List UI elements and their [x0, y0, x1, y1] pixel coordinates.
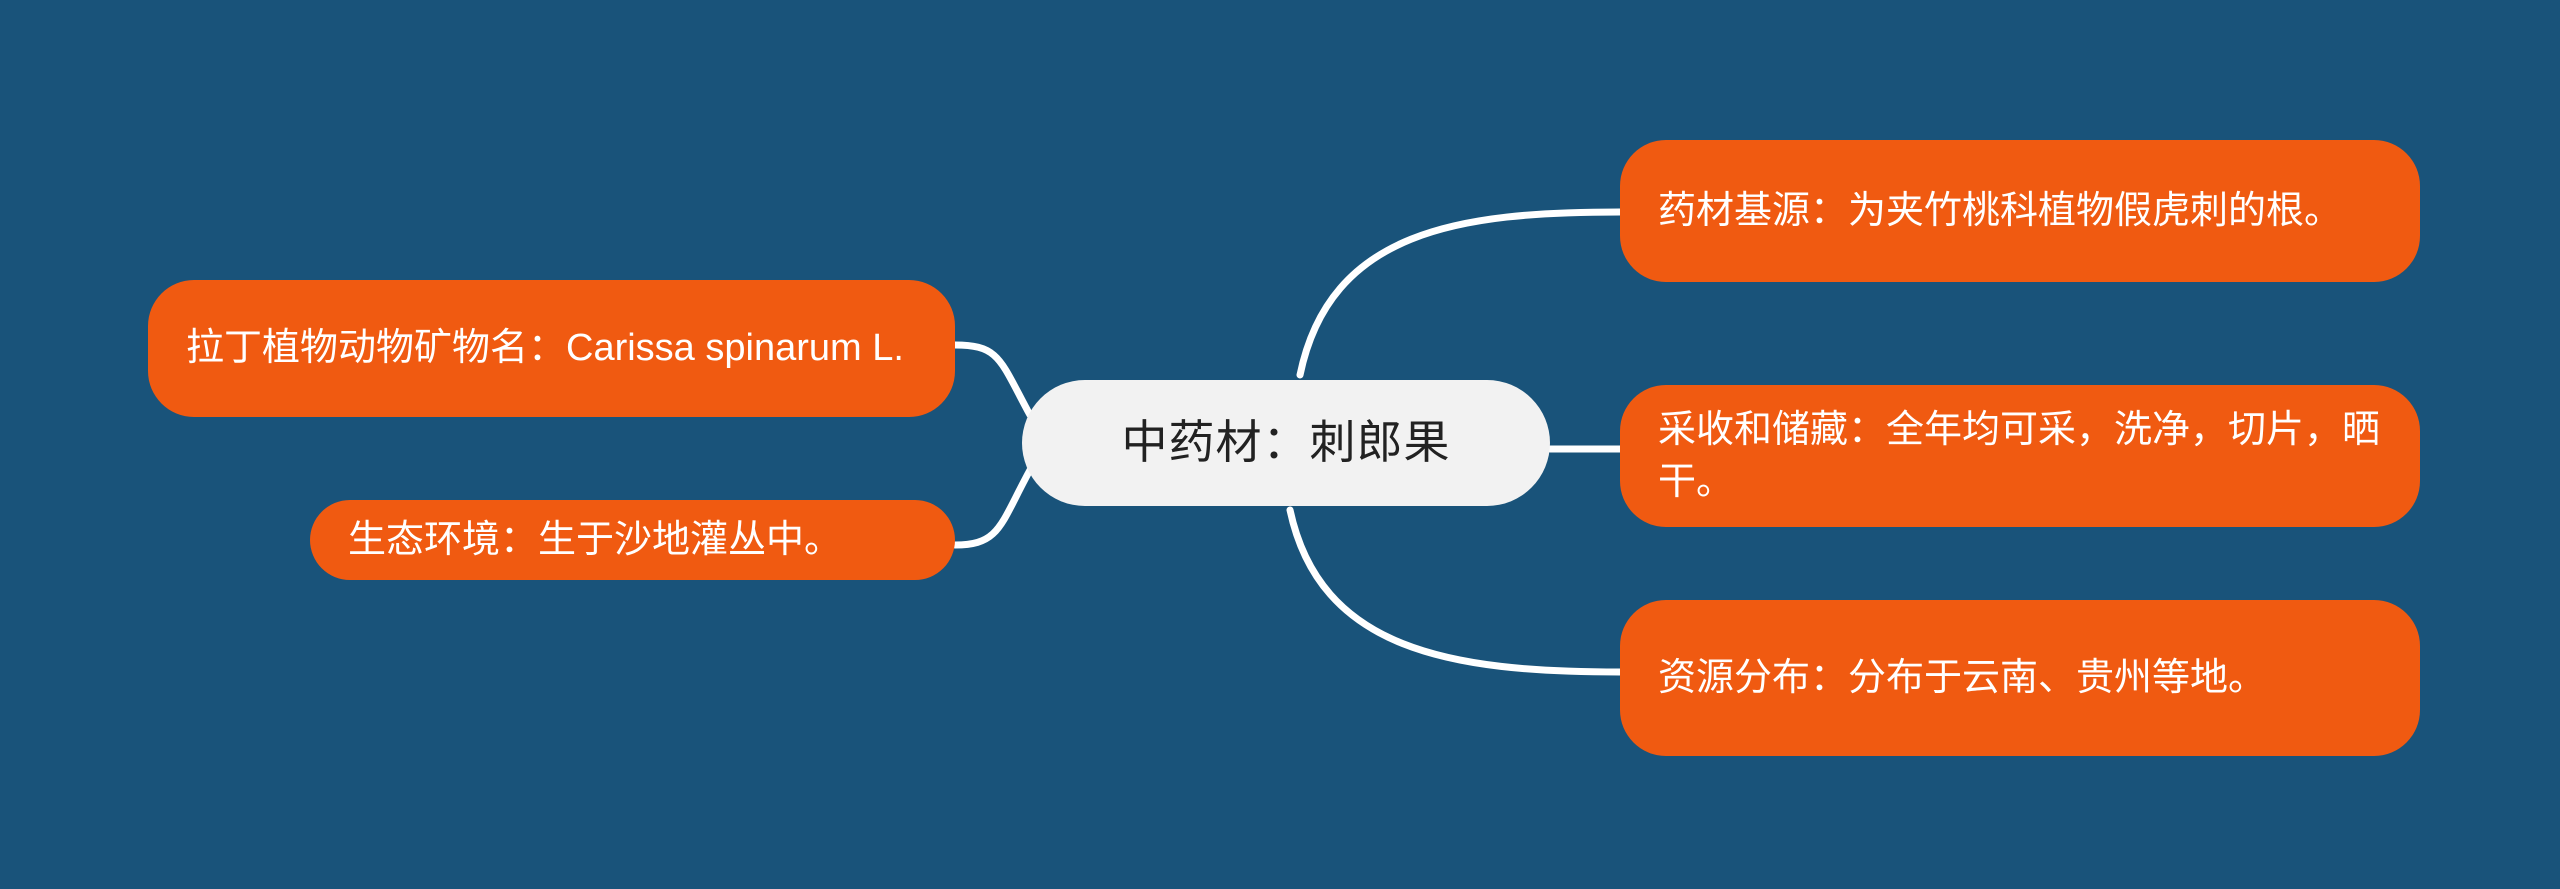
mindmap-canvas: 中药材：刺郎果 拉丁植物动物矿物名：Carissa spinarum L. 生态…	[0, 0, 2560, 889]
connector-root-to-resource-distribution	[1290, 510, 1620, 672]
connector-root-to-ecological-environment	[955, 470, 1030, 545]
mindmap-node-resource-distribution[interactable]: 资源分布：分布于云南、贵州等地。	[1620, 600, 2420, 756]
mindmap-root-label: 中药材：刺郎果	[1022, 411, 1550, 474]
connector-root-to-latin-name	[955, 345, 1030, 415]
mindmap-node-ecological-environment-label: 生态环境：生于沙地灌丛中。	[348, 514, 917, 566]
mindmap-node-latin-name-label: 拉丁植物动物矿物名：Carissa spinarum L.	[186, 322, 917, 374]
mindmap-node-resource-distribution-label: 资源分布：分布于云南、贵州等地。	[1658, 652, 2382, 704]
connector-root-to-medicinal-source	[1300, 212, 1620, 375]
mindmap-node-harvest-and-storage-label: 采收和储藏：全年均可采，洗净，切片，晒干。	[1658, 404, 2382, 509]
mindmap-node-ecological-environment[interactable]: 生态环境：生于沙地灌丛中。	[310, 500, 955, 580]
mindmap-node-latin-name[interactable]: 拉丁植物动物矿物名：Carissa spinarum L.	[148, 280, 955, 417]
mindmap-node-harvest-and-storage[interactable]: 采收和储藏：全年均可采，洗净，切片，晒干。	[1620, 385, 2420, 527]
mindmap-node-medicinal-source-label: 药材基源：为夹竹桃科植物假虎刺的根。	[1658, 185, 2382, 237]
mindmap-node-medicinal-source[interactable]: 药材基源：为夹竹桃科植物假虎刺的根。	[1620, 140, 2420, 282]
mindmap-root-node[interactable]: 中药材：刺郎果	[1022, 380, 1550, 506]
